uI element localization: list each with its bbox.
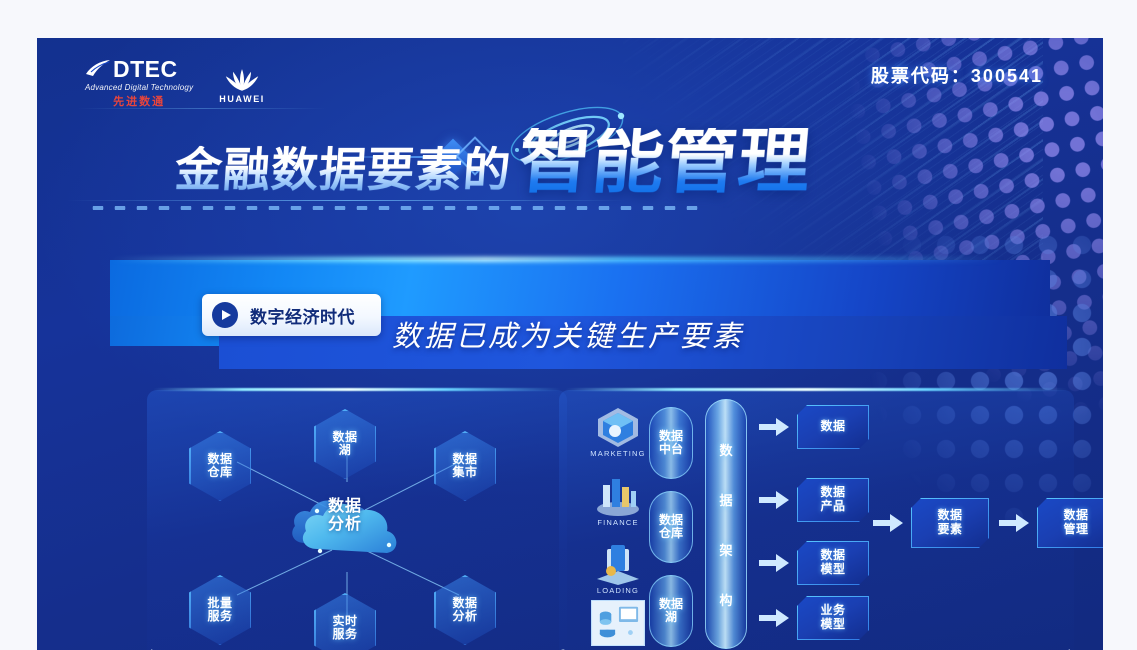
result-data-element-outline [911,498,989,548]
layer-label-line2: 湖 [665,610,677,624]
logo-group: DTEC Advanced Digital Technology 先进数通 HU… [85,58,265,109]
dotted-divider [87,206,707,210]
layer-data-warehouse[interactable]: 数据 仓库 [649,491,693,563]
dtec-tagline: Advanced Digital Technology [85,83,193,92]
arrow-right-icon [759,608,789,628]
architecture-char: 构 [719,590,732,609]
marketing-cube-icon [593,406,643,448]
architecture-char: 架 [719,540,732,559]
layer-label-line1: 数据 [659,597,683,611]
layer-label-line2: 中台 [659,442,683,456]
data-architecture-pillar[interactable]: 数 据 架 构 [705,399,747,649]
thumbnail-graphic [592,601,644,645]
stock-code-label: 股票代码：300541 [871,62,1043,88]
dtec-chinese-name: 先进数通 [85,93,193,109]
dtec-logo: DTEC Advanced Digital Technology 先进数通 [85,58,193,109]
arrow-right-icon [759,553,789,573]
layer-data-midplatform[interactable]: 数据 中台 [649,407,693,479]
presentation-slide: DTEC Advanced Digital Technology 先进数通 HU… [37,38,1103,650]
architecture-char: 数 [719,440,732,459]
layer-label-line1: 数据 [659,429,683,443]
output-business-model-outline [797,596,869,640]
source-loading[interactable]: LOADING [587,543,649,595]
section-tag-chip[interactable]: 数字经济时代 [202,294,381,336]
play-icon [212,302,238,328]
arrow-right-icon [759,490,789,510]
output-data-product-outline [797,478,869,522]
dtec-wordmark: DTEC [113,58,178,81]
layer-label-line2: 仓库 [659,526,683,540]
arrow-right-icon [873,513,903,533]
data-thumbnail-icon[interactable] [591,600,645,646]
huawei-wordmark: HUAWEI [219,94,265,104]
source-finance[interactable]: FINANCE [587,475,649,527]
huawei-flower-icon [224,67,260,91]
final-data-governance-outline [1037,498,1103,548]
huawei-logo: HUAWEI [219,67,265,109]
layer-data-lake[interactable]: 数据 湖 [649,575,693,647]
arrow-right-icon [759,417,789,437]
source-label: MARKETING [587,449,649,458]
slide-title-emphasis: 智能管理 [516,128,814,196]
cloud-label-line2: 分析 [287,516,403,534]
arrow-right-icon [999,513,1029,533]
source-marketing[interactable]: MARKETING [587,406,649,458]
layer-label-line1: 数据 [659,513,683,527]
output-data-outline [797,405,869,449]
slide-title-primary: 金融数据要素的 [173,146,512,196]
source-label: FINANCE [587,518,649,527]
cloud-label-line1: 数据 [287,498,403,516]
finance-chart-icon [593,475,643,517]
section-headline: 数据已成为关键生产要素 [392,313,744,355]
dtec-mark-icon [85,60,111,80]
architecture-char: 据 [719,490,732,509]
source-label: LOADING [587,586,649,595]
slide-title: 金融数据要素的 智能管理 [175,128,811,196]
cloud-center-label: 数据 分析 [287,498,403,535]
output-data-model-outline [797,541,869,585]
section-tag-label: 数字经济时代 [250,303,355,328]
loading-server-icon [593,543,643,585]
